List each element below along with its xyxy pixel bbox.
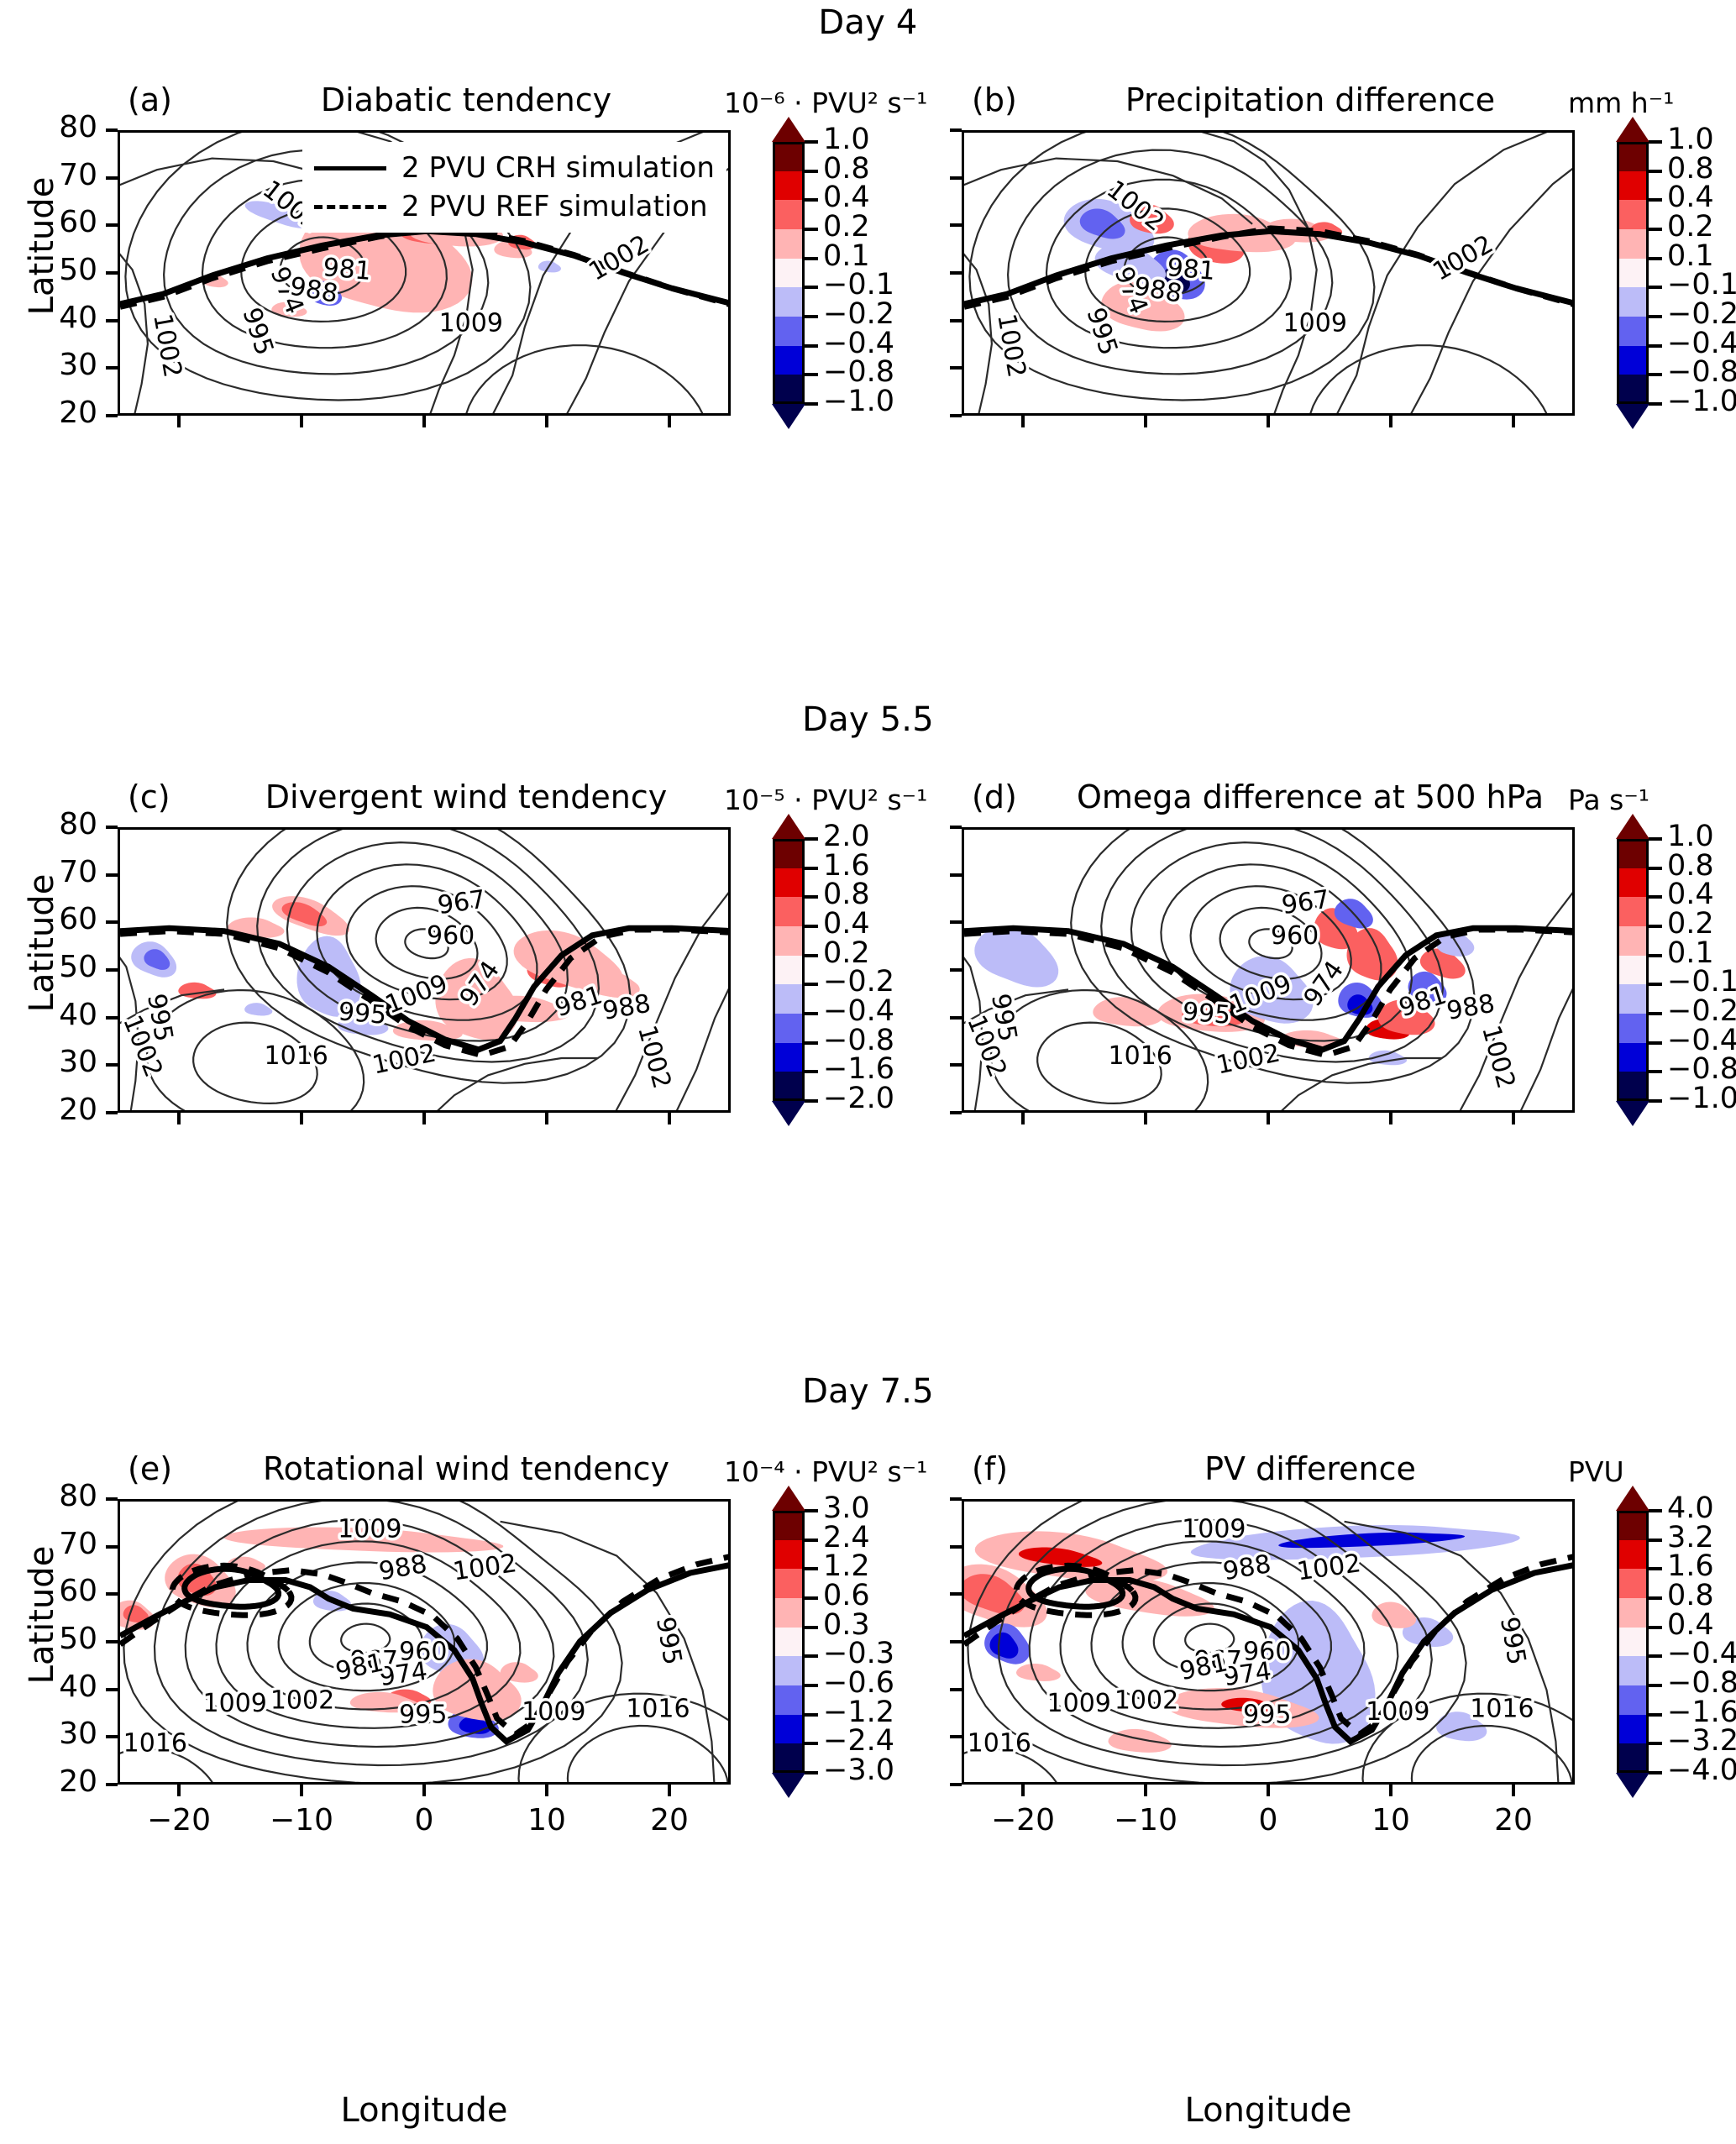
svg-text:1009: 1009	[1047, 1689, 1111, 1718]
colorbar-band-d-8	[1617, 1072, 1649, 1101]
colorbar-tick-b-3	[1649, 228, 1662, 231]
colorbar-tick-d-7	[1649, 1041, 1662, 1045]
svg-text:1002: 1002	[1214, 1038, 1282, 1080]
colorbar-band-d-7	[1617, 1043, 1649, 1072]
svg-text:1002: 1002	[451, 1549, 518, 1586]
y-tick-c-2	[106, 1016, 118, 1020]
colorbar-tick-d-0	[1649, 837, 1662, 841]
svg-text:967: 967	[436, 885, 488, 921]
x-tick-a-3	[545, 416, 548, 427]
colorbar-max-arrow-d	[1616, 814, 1649, 839]
x-tick-label-f-4: 20	[1463, 1803, 1564, 1837]
colorbar-title-d: Pa s⁻¹	[1568, 784, 1649, 816]
colorbar-title-e: 10⁻⁴ · PVU² s⁻¹	[724, 1455, 927, 1488]
y-tick-b-6	[950, 128, 962, 132]
colorbar-band-a-3	[773, 229, 805, 259]
legend-label-1: 2 PVU REF simulation	[401, 190, 708, 223]
x-tick-label-f-0: −20	[973, 1803, 1073, 1837]
colorbar-band-a-5	[773, 287, 805, 317]
colorbar-band-c-5	[773, 984, 805, 1014]
colorbar-tick-f-9	[1649, 1771, 1662, 1774]
svg-text:981: 981	[1396, 980, 1450, 1023]
x-tick-b-0	[1021, 416, 1025, 427]
y-tick-label-c-3: 50	[17, 950, 97, 984]
colorbar-tick-b-8	[1649, 373, 1662, 376]
x-tick-c-2	[422, 1113, 426, 1124]
colorbar-min-arrow-d	[1616, 1101, 1649, 1126]
x-tick-f-2	[1267, 1785, 1270, 1796]
colorbar-tick-f-0	[1649, 1509, 1662, 1512]
colorbar-band-a-4	[773, 259, 805, 288]
svg-text:1002: 1002	[147, 312, 187, 380]
svg-text:1002: 1002	[1115, 1686, 1178, 1716]
x-tick-f-4	[1512, 1785, 1515, 1796]
colorbar-tick-b-6	[1649, 315, 1662, 318]
x-tick-e-3	[545, 1785, 548, 1796]
y-tick-label-e-2: 40	[17, 1670, 97, 1704]
colorbar-title-f: PVU	[1568, 1455, 1624, 1488]
y-tick-f-5	[950, 1545, 962, 1549]
y-tick-label-e-0: 20	[17, 1764, 97, 1799]
colorbar-band-d-1	[1617, 868, 1649, 898]
x-tick-label-f-2: 0	[1218, 1803, 1319, 1837]
y-tick-e-6	[106, 1497, 118, 1501]
colorbar-tick-b-0	[1649, 140, 1662, 144]
colorbar-tick-d-8	[1649, 1070, 1662, 1073]
colorbar-band-b-8	[1617, 375, 1649, 404]
colorbar-band-e-5	[773, 1656, 805, 1685]
colorbar-band-b-6	[1617, 317, 1649, 346]
y-tick-c-3	[106, 968, 118, 972]
colorbar-tick-c-6	[805, 1012, 818, 1015]
colorbar-title-c: 10⁻⁵ · PVU² s⁻¹	[724, 784, 927, 816]
x-tick-e-0	[177, 1785, 181, 1796]
svg-text:981: 981	[333, 1648, 386, 1686]
x-tick-c-1	[300, 1113, 303, 1124]
legend-item-1: 2 PVU REF simulation	[314, 187, 715, 226]
colorbar-tick-b-2	[1649, 198, 1662, 202]
y-tick-b-2	[950, 319, 962, 322]
svg-text:1009: 1009	[439, 308, 503, 338]
colorbar-tick-c-3	[805, 925, 818, 928]
y-tick-label-a-3: 50	[17, 253, 97, 287]
colorbar-tick-d-5	[1649, 983, 1662, 986]
colorbar-tick-e-5	[805, 1654, 818, 1658]
svg-text:1016: 1016	[123, 1729, 187, 1759]
colorbar-title-b: mm h⁻¹	[1568, 86, 1674, 119]
colorbar-max-arrow-a	[772, 117, 805, 142]
colorbar-max-arrow-e	[772, 1486, 805, 1511]
y-tick-f-0	[950, 1783, 962, 1786]
colorbar-band-d-0	[1617, 839, 1649, 868]
svg-text:981: 981	[1177, 1648, 1230, 1686]
colorbar-tick-e-1	[805, 1539, 818, 1542]
colorbar-band-f-1	[1617, 1540, 1649, 1570]
colorbar-tick-d-4	[1649, 954, 1662, 957]
svg-text:988: 988	[377, 1549, 429, 1586]
panel-tag-e: (e)	[128, 1450, 172, 1487]
y-tick-c-5	[106, 873, 118, 877]
svg-text:1009: 1009	[1283, 308, 1347, 338]
legend-item-0: 2 PVU CRH simulation	[314, 149, 715, 187]
y-tick-label-c-2: 40	[17, 998, 97, 1032]
svg-text:1009: 1009	[522, 1697, 585, 1727]
colorbar-tick-label-e-9: −3.0	[823, 1753, 894, 1787]
y-tick-d-2	[950, 1016, 962, 1020]
y-tick-label-a-2: 40	[17, 301, 97, 335]
x-tick-d-2	[1267, 1113, 1270, 1124]
colorbar-band-c-4	[773, 956, 805, 985]
x-tick-c-4	[668, 1113, 671, 1124]
x-tick-e-2	[422, 1785, 426, 1796]
x-tick-label-e-3: 10	[496, 1803, 597, 1837]
colorbar-tick-b-7	[1649, 344, 1662, 348]
colorbar-tick-a-2	[805, 198, 818, 202]
colorbar-band-b-1	[1617, 171, 1649, 201]
svg-text:1016: 1016	[1109, 1041, 1172, 1071]
y-tick-b-3	[950, 271, 962, 275]
y-tick-label-e-1: 30	[17, 1717, 97, 1751]
colorbar-band-f-4	[1617, 1628, 1649, 1657]
y-tick-label-c-0: 20	[17, 1093, 97, 1127]
colorbar-band-a-8	[773, 375, 805, 404]
x-axis-label-right: Longitude	[962, 2091, 1575, 2130]
y-tick-b-5	[950, 176, 962, 180]
colorbar-tick-e-6	[805, 1684, 818, 1687]
x-tick-label-e-4: 20	[619, 1803, 720, 1837]
colorbar-band-a-0	[773, 142, 805, 171]
x-tick-label-f-1: −10	[1095, 1803, 1196, 1837]
colorbar-tick-f-7	[1649, 1713, 1662, 1717]
y-tick-d-0	[950, 1111, 962, 1114]
legend: 2 PVU CRH simulation2 PVU REF simulation	[302, 142, 726, 233]
y-tick-d-4	[950, 920, 962, 924]
y-tick-e-3	[106, 1640, 118, 1643]
svg-text:995: 995	[1494, 1615, 1531, 1667]
y-tick-label-c-1: 30	[17, 1045, 97, 1079]
svg-text:1009: 1009	[203, 1689, 267, 1718]
colorbar-tick-label-f-9: −4.0	[1667, 1753, 1736, 1787]
svg-text:1002: 1002	[370, 1038, 438, 1080]
y-tick-a-4	[106, 223, 118, 227]
x-tick-e-1	[300, 1785, 303, 1796]
svg-text:1016: 1016	[626, 1695, 690, 1724]
x-tick-d-3	[1389, 1113, 1392, 1124]
colorbar-min-arrow-e	[772, 1773, 805, 1798]
colorbar-band-b-3	[1617, 229, 1649, 259]
colorbar-band-d-2	[1617, 897, 1649, 926]
colorbar-tick-f-1	[1649, 1539, 1662, 1542]
y-tick-label-c-4: 60	[17, 902, 97, 936]
colorbar-tick-a-6	[805, 315, 818, 318]
colorbar-band-e-3	[773, 1598, 805, 1628]
x-tick-c-0	[177, 1113, 181, 1124]
colorbar-tick-b-1	[1649, 170, 1662, 173]
svg-text:1002: 1002	[270, 1686, 334, 1716]
colorbar-tick-label-b-9: −1.0	[1667, 385, 1736, 418]
colorbar-tick-f-3	[1649, 1596, 1662, 1600]
y-tick-c-4	[106, 920, 118, 924]
panel-tag-c: (c)	[128, 778, 170, 815]
y-tick-label-c-5: 70	[17, 855, 97, 889]
plot-area-f[interactable]: 1009100998898810021002995995967967960960…	[962, 1499, 1575, 1785]
x-tick-a-0	[177, 416, 181, 427]
y-tick-b-4	[950, 223, 962, 227]
y-tick-e-5	[106, 1545, 118, 1549]
colorbar-band-a-1	[773, 171, 805, 201]
colorbar-band-d-3	[1617, 926, 1649, 956]
colorbar-band-c-8	[773, 1072, 805, 1101]
x-tick-b-1	[1144, 416, 1147, 427]
contour-labels-b: 1002100297497498198198898810021002995995…	[991, 175, 1498, 380]
y-tick-f-4	[950, 1592, 962, 1596]
x-tick-f-3	[1389, 1785, 1392, 1796]
x-tick-label-e-1: −10	[251, 1803, 352, 1837]
colorbar-tick-f-6	[1649, 1684, 1662, 1687]
colorbar-band-a-2	[773, 200, 805, 229]
svg-text:1016: 1016	[1470, 1695, 1534, 1724]
colorbar-tick-d-3	[1649, 925, 1662, 928]
colorbar-tick-f-4	[1649, 1626, 1662, 1629]
svg-text:988: 988	[1445, 989, 1497, 1026]
y-tick-a-1	[106, 366, 118, 370]
svg-text:1009: 1009	[338, 1515, 401, 1544]
colorbar-tick-d-9	[1649, 1099, 1662, 1103]
colorbar-min-arrow-f	[1616, 1773, 1649, 1798]
x-tick-a-2	[422, 416, 426, 427]
slp-contours-c	[120, 830, 731, 1113]
colorbar-band-c-6	[773, 1014, 805, 1043]
colorbar-tick-b-4	[1649, 257, 1662, 260]
y-tick-c-0	[106, 1111, 118, 1114]
colorbar-tick-a-3	[805, 228, 818, 231]
colorbar-e[interactable]	[773, 1511, 805, 1773]
y-tick-d-5	[950, 873, 962, 877]
legend-line-dashed-icon	[314, 205, 386, 209]
panel-title-c: Divergent wind tendency	[176, 778, 756, 815]
colorbar-tick-c-0	[805, 837, 818, 841]
svg-text:995: 995	[1181, 997, 1231, 1030]
colorbar-band-d-5	[1617, 984, 1649, 1014]
colorbar-band-c-1	[773, 868, 805, 898]
colorbar-tick-d-2	[1649, 895, 1662, 899]
y-tick-e-0	[106, 1783, 118, 1786]
colorbar-tick-b-5	[1649, 286, 1662, 289]
svg-text:995: 995	[650, 1615, 687, 1667]
colorbar-tick-c-2	[805, 895, 818, 899]
plot-area-b[interactable]: 1002100297497498198198898810021002995995…	[962, 130, 1575, 416]
x-tick-f-1	[1144, 1785, 1147, 1796]
y-tick-f-1	[950, 1735, 962, 1738]
colorbar-d[interactable]	[1617, 839, 1649, 1101]
plot-area-d[interactable]: 9959951002100296796796096010091009995995…	[962, 827, 1575, 1113]
x-tick-d-1	[1144, 1113, 1147, 1124]
colorbar-band-e-2	[773, 1569, 805, 1598]
colorbar-band-c-3	[773, 926, 805, 956]
panel-title-e: Rotational wind tendency	[176, 1450, 756, 1487]
plot-area-c[interactable]: 9959951002100296796796096010091009995995…	[118, 827, 731, 1113]
svg-text:1016: 1016	[968, 1729, 1031, 1759]
y-tick-d-6	[950, 826, 962, 829]
colorbar-tick-c-1	[805, 867, 818, 870]
colorbar-tick-c-8	[805, 1070, 818, 1073]
y-tick-c-1	[106, 1063, 118, 1067]
y-tick-e-4	[106, 1592, 118, 1596]
colorbar-tick-f-8	[1649, 1742, 1662, 1745]
colorbar-tick-e-2	[805, 1567, 818, 1570]
colorbar-band-c-0	[773, 839, 805, 868]
x-axis-label-left: Longitude	[118, 2091, 731, 2130]
colorbar-band-e-4	[773, 1628, 805, 1657]
x-tick-b-2	[1267, 416, 1270, 427]
panel-title-d: Omega difference at 500 hPa	[1020, 778, 1600, 815]
x-tick-b-4	[1512, 416, 1515, 427]
colorbar-max-arrow-f	[1616, 1486, 1649, 1511]
colorbar-tick-label-c-9: −2.0	[823, 1082, 894, 1115]
svg-text:995: 995	[399, 1701, 447, 1730]
panel-tag-f: (f)	[972, 1450, 1008, 1487]
y-tick-f-6	[950, 1497, 962, 1501]
colorbar-tick-a-0	[805, 140, 818, 144]
x-tick-d-0	[1021, 1113, 1025, 1124]
y-tick-b-0	[950, 414, 962, 417]
colorbar-tick-a-1	[805, 170, 818, 173]
colorbar-band-d-4	[1617, 956, 1649, 985]
y-tick-label-e-5: 70	[17, 1527, 97, 1561]
colorbar-band-b-4	[1617, 259, 1649, 288]
y-tick-a-0	[106, 414, 118, 417]
y-tick-a-3	[106, 271, 118, 275]
colorbar-b[interactable]	[1617, 142, 1649, 404]
colorbar-band-e-1	[773, 1540, 805, 1570]
colorbar-band-f-0	[1617, 1511, 1649, 1540]
colorbar-min-arrow-b	[1616, 404, 1649, 429]
colorbar-min-arrow-c	[772, 1101, 805, 1126]
y-tick-f-3	[950, 1640, 962, 1643]
colorbar-band-f-2	[1617, 1569, 1649, 1598]
x-tick-e-4	[668, 1785, 671, 1796]
colorbar-tick-a-9	[805, 402, 818, 406]
svg-text:995: 995	[337, 997, 387, 1030]
svg-text:995: 995	[1243, 1701, 1291, 1730]
colorbar-tick-c-5	[805, 983, 818, 986]
panel-title-a: Diabatic tendency	[176, 81, 756, 118]
svg-text:960: 960	[427, 921, 475, 951]
x-tick-label-f-3: 10	[1340, 1803, 1441, 1837]
figure-canvas: Day 4 Day 5.5 Day 7.5 Latitude Latitude …	[0, 0, 1736, 2144]
x-tick-d-4	[1512, 1113, 1515, 1124]
row-title-day75: Day 7.5	[0, 1372, 1736, 1411]
colorbar-max-arrow-c	[772, 814, 805, 839]
colorbar-tick-c-9	[805, 1099, 818, 1103]
svg-text:1002: 1002	[632, 1022, 677, 1092]
y-tick-label-a-4: 60	[17, 205, 97, 239]
colorbar-band-b-5	[1617, 287, 1649, 317]
colorbar-tick-a-7	[805, 344, 818, 348]
y-tick-a-5	[106, 176, 118, 180]
colorbar-tick-e-3	[805, 1596, 818, 1600]
x-tick-b-3	[1389, 416, 1392, 427]
y-tick-e-1	[106, 1735, 118, 1738]
colorbar-band-e-8	[773, 1743, 805, 1773]
plot-area-e[interactable]: 1009100998898810021002995995967967960960…	[118, 1499, 731, 1785]
colorbar-tick-a-5	[805, 286, 818, 289]
colorbar-title-a: 10⁻⁶ · PVU² s⁻¹	[724, 86, 927, 119]
colorbar-tick-f-2	[1649, 1567, 1662, 1570]
colorbar-tick-b-9	[1649, 402, 1662, 406]
y-tick-b-1	[950, 366, 962, 370]
x-tick-a-1	[300, 416, 303, 427]
colorbar-tick-e-9	[805, 1771, 818, 1774]
colorbar-band-f-8	[1617, 1743, 1649, 1773]
svg-text:1016: 1016	[265, 1041, 328, 1071]
colorbar-tick-f-5	[1649, 1654, 1662, 1658]
colorbar-tick-c-4	[805, 954, 818, 957]
x-tick-label-e-2: 0	[374, 1803, 475, 1837]
colorbar-band-c-7	[773, 1043, 805, 1072]
y-tick-label-a-5: 70	[17, 158, 97, 192]
y-tick-label-e-4: 60	[17, 1574, 97, 1608]
y-tick-a-6	[106, 128, 118, 132]
y-tick-label-e-6: 80	[17, 1479, 97, 1513]
svg-text:1002: 1002	[991, 312, 1031, 380]
row-title-day4: Day 4	[0, 3, 1736, 42]
colorbar-band-a-7	[773, 346, 805, 375]
colorbar-tick-c-7	[805, 1041, 818, 1045]
colorbar-tick-label-d-9: −1.0	[1667, 1082, 1736, 1115]
colorbar-band-f-7	[1617, 1715, 1649, 1744]
colorbar-max-arrow-b	[1616, 117, 1649, 142]
panel-title-f: PV difference	[1020, 1450, 1600, 1487]
y-tick-f-2	[950, 1688, 962, 1691]
colorbar-c[interactable]	[773, 839, 805, 1101]
colorbar-f[interactable]	[1617, 1511, 1649, 1773]
svg-text:1009: 1009	[1366, 1697, 1429, 1727]
colorbar-band-f-5	[1617, 1656, 1649, 1685]
x-tick-label-e-0: −20	[128, 1803, 229, 1837]
x-tick-c-3	[545, 1113, 548, 1124]
colorbar-band-b-0	[1617, 142, 1649, 171]
y-tick-e-2	[106, 1688, 118, 1691]
colorbar-band-a-6	[773, 317, 805, 346]
colorbar-band-e-0	[773, 1511, 805, 1540]
y-tick-d-3	[950, 968, 962, 972]
colorbar-tick-a-8	[805, 373, 818, 376]
colorbar-band-e-6	[773, 1685, 805, 1715]
colorbar-tick-label-a-9: −1.0	[823, 385, 894, 418]
y-tick-a-2	[106, 319, 118, 322]
colorbar-band-b-2	[1617, 200, 1649, 229]
y-tick-c-6	[106, 826, 118, 829]
colorbar-tick-e-8	[805, 1742, 818, 1745]
y-tick-label-c-6: 80	[17, 807, 97, 841]
colorbar-tick-d-1	[1649, 867, 1662, 870]
y-tick-label-a-1: 30	[17, 348, 97, 382]
colorbar-a[interactable]	[773, 142, 805, 404]
panel-tag-b: (b)	[972, 81, 1017, 118]
colorbar-tick-d-6	[1649, 1012, 1662, 1015]
colorbar-band-e-7	[773, 1715, 805, 1744]
colorbar-band-c-2	[773, 897, 805, 926]
colorbar-tick-e-4	[805, 1626, 818, 1629]
legend-line-solid-icon	[314, 166, 386, 170]
panel-tag-a: (a)	[128, 81, 172, 118]
colorbar-tick-e-7	[805, 1713, 818, 1717]
colorbar-tick-a-4	[805, 257, 818, 260]
colorbar-tick-e-0	[805, 1509, 818, 1512]
y-tick-label-a-0: 20	[17, 396, 97, 430]
svg-text:1002: 1002	[1476, 1022, 1521, 1092]
